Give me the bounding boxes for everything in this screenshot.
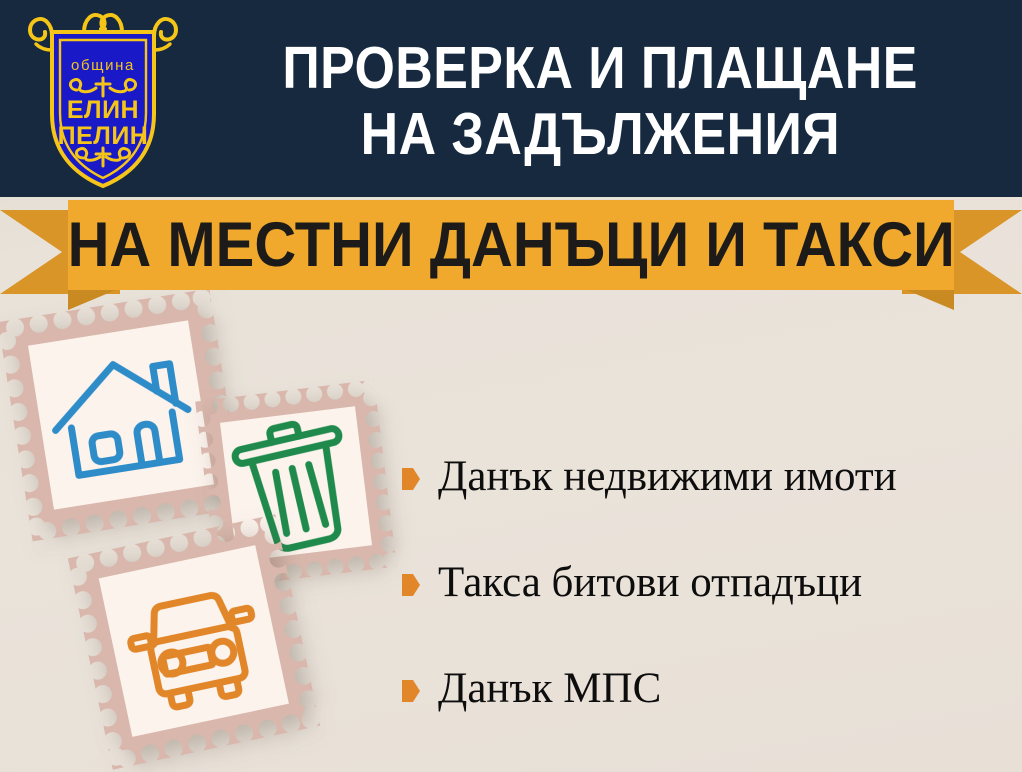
- bullet-arrow-icon: [402, 468, 420, 490]
- poster-canvas: община ЕЛИН ПЕЛИН ПРОВЕРКА И ПЛАЩАНЕ НА …: [0, 0, 1022, 772]
- ribbon-banner: НА МЕСТНИ ДАНЪЦИ И ТАКСИ: [0, 196, 1022, 311]
- bullet-arrow-icon: [402, 574, 420, 596]
- emblem-name-line2: ПЕЛИН: [58, 122, 149, 150]
- list-item-label: Такса битови отпадъци: [438, 560, 862, 605]
- stamp-card-vehicle-tax: [68, 514, 320, 769]
- municipality-emblem-icon: община ЕЛИН ПЕЛИН: [22, 6, 184, 194]
- ribbon-text: НА МЕСТНИ ДАНЪЦИ И ТАКСИ: [67, 214, 954, 277]
- bullet-arrow-icon: [402, 680, 420, 702]
- list-item[interactable]: Данък недвижими имоти: [402, 424, 1002, 530]
- tax-type-list: Данък недвижими имоти Такса битови отпад…: [402, 424, 1002, 742]
- header-title-line-1: ПРОВЕРКА И ПЛАЩАНЕ: [282, 35, 917, 101]
- emblem-top-label: община: [71, 57, 135, 74]
- list-item[interactable]: Данък МПС: [402, 636, 1002, 742]
- list-item[interactable]: Такса битови отпадъци: [402, 530, 1002, 636]
- header-title-line-2: НА ЗАДЪЛЖЕНИЯ: [360, 101, 839, 167]
- emblem-name-line1: ЕЛИН: [67, 96, 139, 124]
- list-item-label: Данък МПС: [438, 666, 661, 711]
- header-title: ПРОВЕРКА И ПЛАЩАНЕ НА ЗАДЪЛЖЕНИЯ: [190, 16, 1010, 186]
- ribbon-bar: НА МЕСТНИ ДАНЪЦИ И ТАКСИ: [68, 200, 954, 290]
- list-item-label: Данък недвижими имоти: [438, 454, 897, 499]
